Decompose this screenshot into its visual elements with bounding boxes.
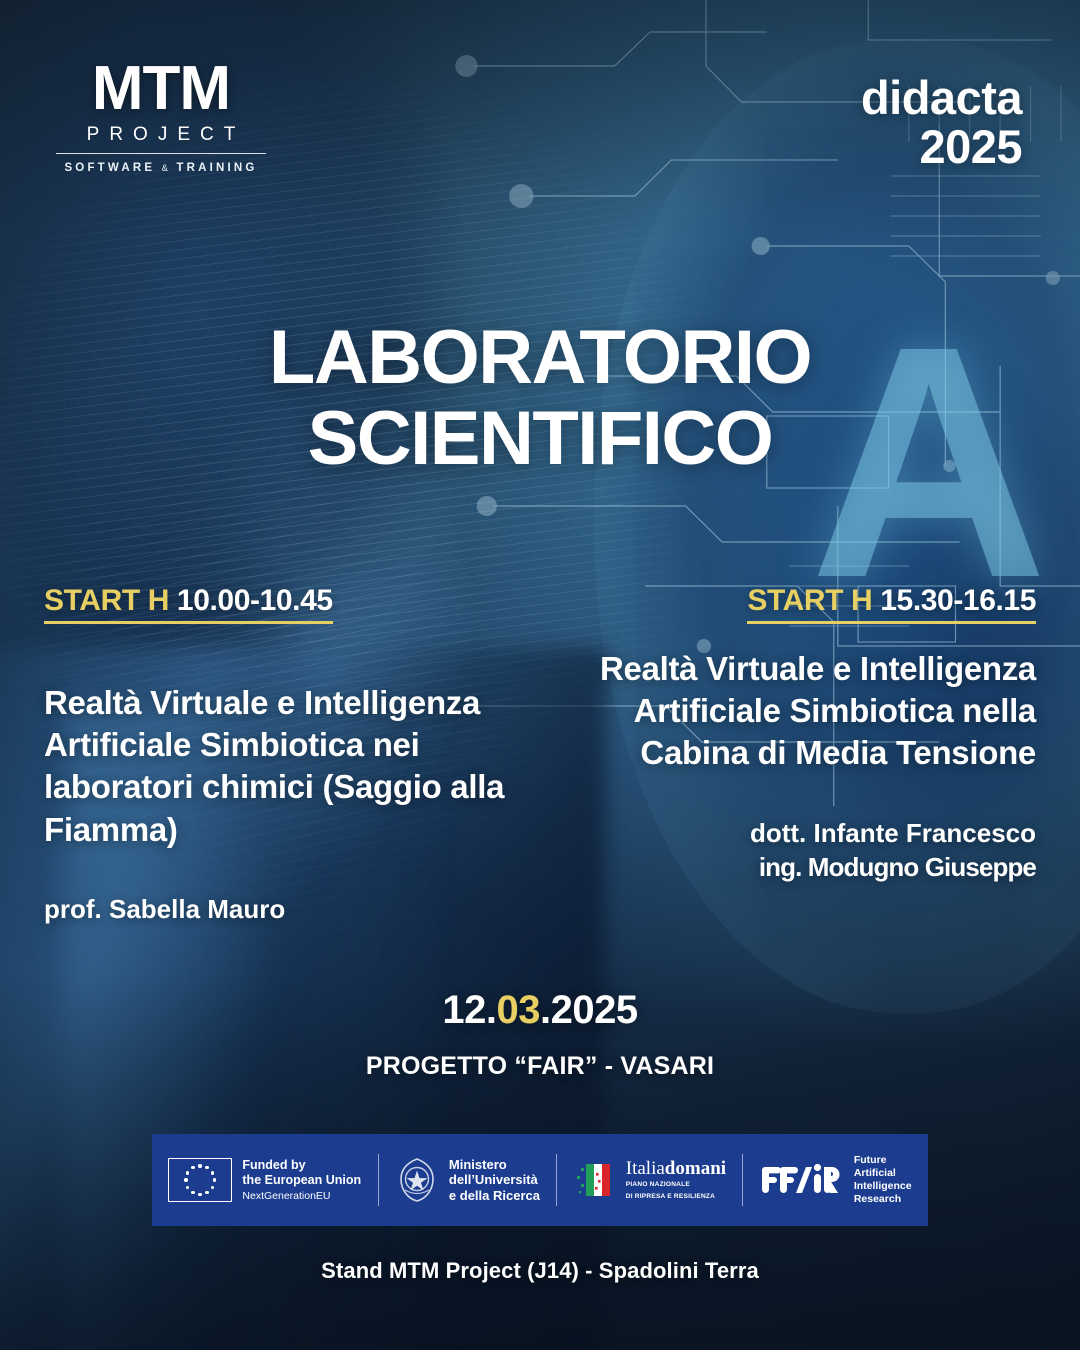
italia-domani-italia: Italia — [626, 1158, 665, 1179]
italia-domani-sub-1: PIANO NAZIONALE — [626, 1181, 726, 1189]
didacta-event-logo: didacta 2025 — [861, 74, 1022, 172]
session-morning-start: START H 10.00-10.45 — [44, 584, 333, 624]
eu-line-1: Funded by — [242, 1158, 361, 1173]
didacta-name: didacta — [861, 74, 1022, 123]
speaker-name: prof. Sabella Mauro — [44, 893, 514, 927]
event-date: 12.03.2025 — [0, 988, 1080, 1033]
eu-line-2: the European Union — [242, 1173, 361, 1188]
date-day: 12. — [442, 988, 496, 1032]
logo-tagline-ampersand: & — [162, 163, 170, 174]
start-time: 15.30-16.15 — [880, 584, 1036, 617]
funders-logo-band: Funded by the European Union NextGenerat… — [152, 1134, 928, 1226]
italia-domani-text: Italiadomani PIANO NAZIONALE DI RIPRESA … — [626, 1159, 726, 1200]
ministry-line-3: e della Ricerca — [449, 1188, 540, 1204]
poster-canvas: A MTM PROJECT SOFTWARE & TRAINING didact… — [0, 0, 1080, 1350]
title-line-2: SCIENTIFICO — [0, 399, 1080, 480]
logo-fair: Future Artificial Intelligence Research — [743, 1134, 928, 1226]
eu-flag-icon — [168, 1158, 232, 1202]
eu-line-3: NextGenerationEU — [242, 1190, 361, 1202]
ministry-line-1: Ministero — [449, 1157, 540, 1173]
speaker-name: ing. Modugno Giuseppe — [566, 851, 1036, 885]
speaker-name: dott. Infante Francesco — [566, 817, 1036, 851]
session-afternoon-start: START H 15.30-16.15 — [747, 584, 1036, 624]
italia-domani-name: Italiadomani — [626, 1159, 726, 1178]
session-afternoon-title: Realtà Virtuale e Intelligenza Artificia… — [566, 648, 1036, 775]
italian-flag-icon — [574, 1160, 616, 1200]
stand-location: Stand MTM Project (J14) - Spadolini Terr… — [0, 1258, 1080, 1284]
italia-domani-sub-2: DI RIPRESA E RESILIENZA — [626, 1193, 726, 1201]
start-time: 10.00-10.45 — [177, 584, 333, 617]
fair-line-2: Artificial — [854, 1167, 912, 1180]
ministry-text: Ministero dell’Università e della Ricerc… — [449, 1157, 540, 1204]
logo-tagline-software: SOFTWARE — [64, 162, 155, 174]
logo-wordmark: MTM — [56, 58, 266, 120]
start-label: START H — [747, 584, 872, 617]
italian-republic-emblem-icon — [395, 1157, 439, 1203]
italia-domani-domani: domani — [665, 1158, 726, 1179]
didacta-year: 2025 — [861, 123, 1022, 172]
logo-ministero-universita-ricerca: Ministero dell’Università e della Ricerc… — [379, 1134, 557, 1226]
mtm-project-logo: MTM PROJECT SOFTWARE & TRAINING — [56, 58, 266, 174]
fair-line-1: Future — [854, 1154, 912, 1167]
fair-line-3: Intelligence — [854, 1180, 912, 1193]
project-subtitle: PROGETTO “FAIR” - VASARI — [0, 1052, 1080, 1081]
session-morning-speakers: prof. Sabella Mauro — [44, 893, 514, 927]
logo-tagline-training: TRAINING — [176, 162, 257, 174]
page-title: LABORATORIO SCIENTIFICO — [0, 318, 1080, 479]
logo-tagline: SOFTWARE & TRAINING — [56, 162, 266, 174]
eu-funding-text: Funded by the European Union NextGenerat… — [242, 1158, 361, 1202]
fair-expansion-text: Future Artificial Intelligence Research — [854, 1154, 912, 1207]
session-afternoon: START H 15.30-16.15 Realtà Virtuale e In… — [566, 584, 1036, 884]
date-year: .2025 — [540, 988, 638, 1032]
fair-line-4: Research — [854, 1193, 912, 1206]
logo-european-union: Funded by the European Union NextGenerat… — [152, 1134, 378, 1226]
session-morning-title: Realtà Virtuale e Intelligenza Artificia… — [44, 682, 514, 851]
fair-logo-icon — [760, 1160, 844, 1200]
session-morning: START H 10.00-10.45 Realtà Virtuale e In… — [44, 584, 514, 927]
start-label: START H — [44, 584, 169, 617]
title-line-1: LABORATORIO — [0, 318, 1080, 399]
ministry-line-2: dell’Università — [449, 1172, 540, 1188]
session-afternoon-speakers: dott. Infante Francesco ing. Modugno Giu… — [566, 817, 1036, 885]
date-month: 03 — [497, 988, 541, 1032]
logo-italia-domani: Italiadomani PIANO NAZIONALE DI RIPRESA … — [557, 1134, 742, 1226]
poster-content: MTM PROJECT SOFTWARE & TRAINING didacta … — [0, 0, 1080, 1350]
logo-subtitle: PROJECT — [56, 124, 266, 154]
